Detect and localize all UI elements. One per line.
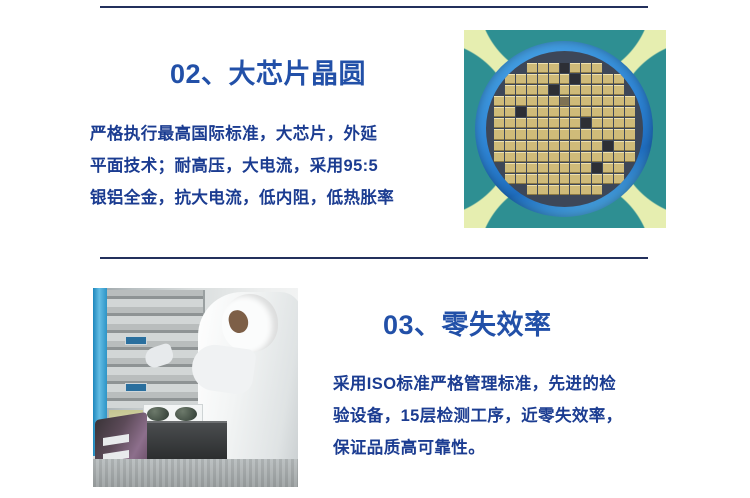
wafer-die-grid: [494, 63, 635, 195]
equipment-display-panel-bottom: [125, 383, 147, 392]
section-02-body-line-1: 严格执行最高国际标准，大芯片，外延: [90, 118, 462, 150]
wafer-in-tray-left: [147, 407, 169, 421]
black-carrier-bin: [137, 421, 227, 460]
wafer-in-tray-right: [175, 407, 197, 421]
wafer-photo: [464, 30, 666, 228]
top-divider: [100, 6, 648, 8]
cleanroom-floor: [93, 459, 298, 487]
section-03-heading: 03、零失效率: [383, 303, 552, 342]
wafer-surface: [486, 51, 643, 207]
section-03-body: 采用ISO标准严格管理标准，先进的检 验设备，15层检测工序，近零失效率， 保证…: [333, 368, 705, 464]
section-03-body-line-1: 采用ISO标准严格管理标准，先进的检: [333, 368, 705, 400]
section-02-body-line-2: 平面技术；耐高压，大电流，采用95:5: [90, 150, 462, 182]
section-03-body-line-2: 验设备，15层检测工序，近零失效率，: [333, 400, 705, 432]
equipment-display-panel-top: [125, 336, 147, 345]
section-02-body: 严格执行最高国际标准，大芯片，外延 平面技术；耐高压，大电流，采用95:5 银铝…: [90, 118, 462, 214]
section-02-body-line-3: 银铝全金，抗大电流，低内阻，低热胀率: [90, 182, 462, 214]
product-detail-page: 02、大芯片晶圆 严格执行最高国际标准，大芯片，外延 平面技术；耐高压，大电流，…: [0, 0, 750, 498]
cleanroom-photo: [93, 288, 298, 487]
middle-divider: [100, 257, 648, 259]
section-03-body-line-3: 保证品质高可靠性。: [333, 432, 705, 464]
section-02-heading: 02、大芯片晶圆: [170, 52, 366, 91]
